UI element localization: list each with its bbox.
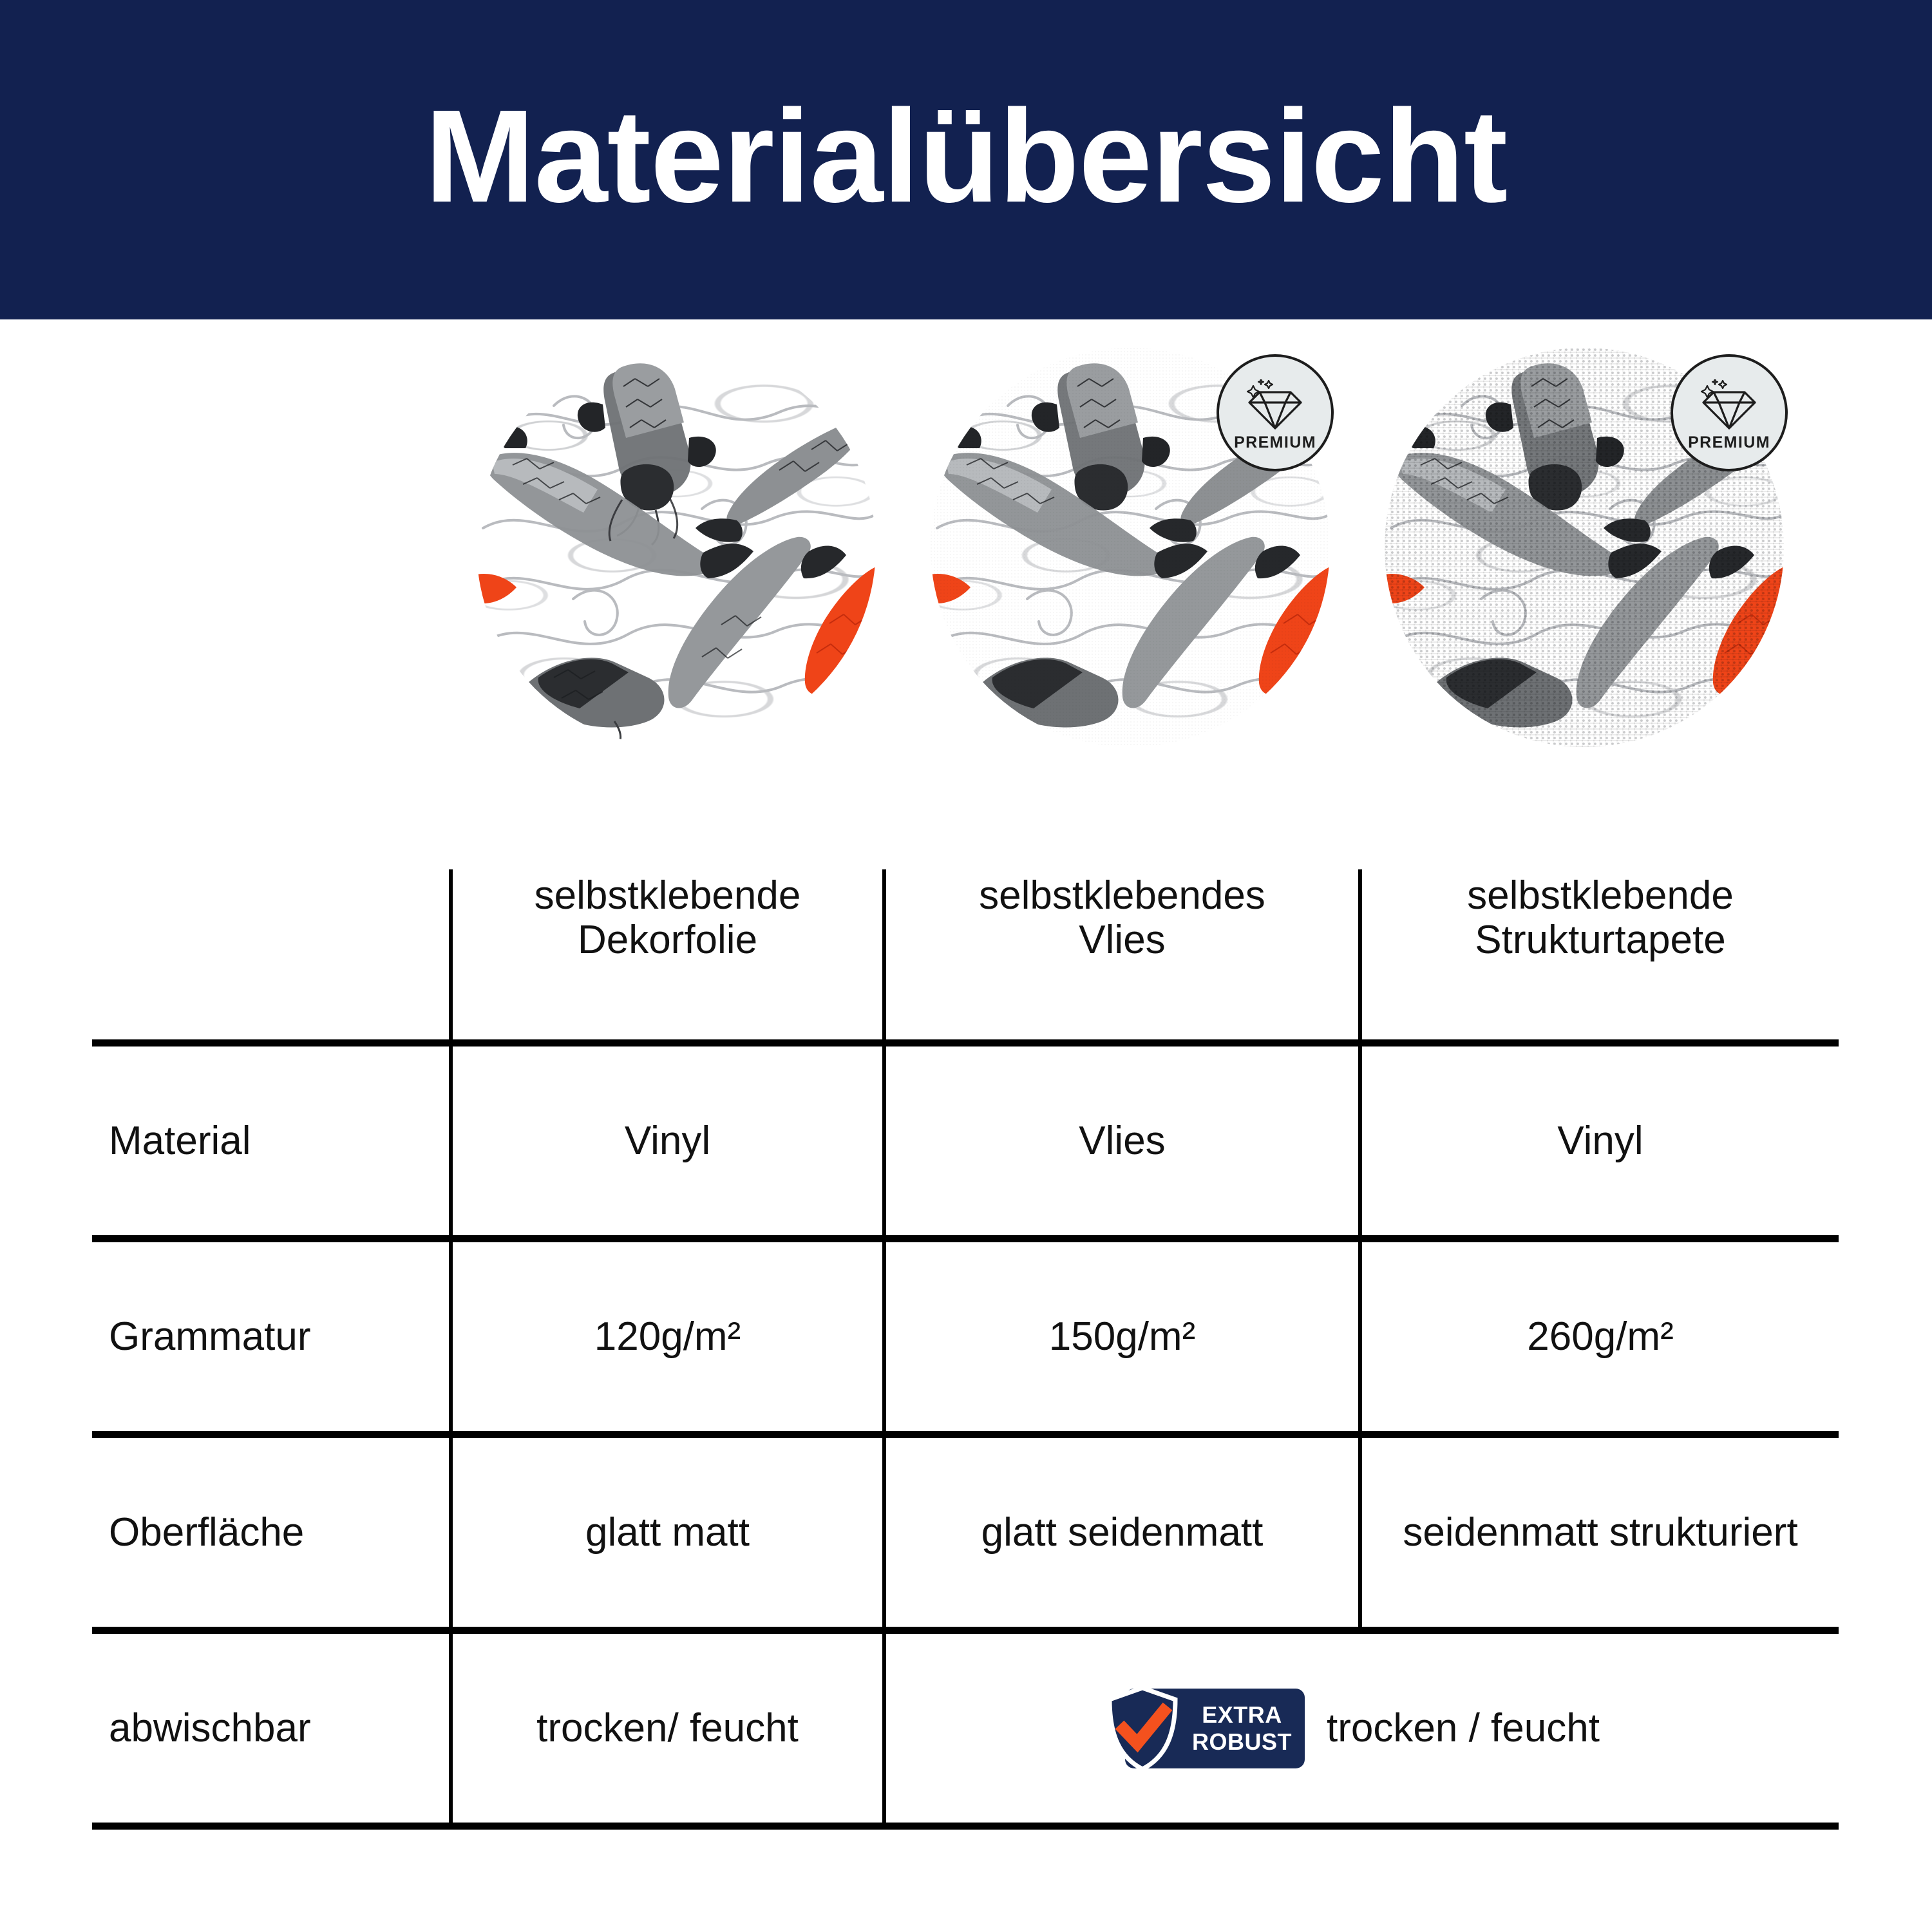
table-row-grammatur: Grammatur 120g/m² 150g/m² 260g/m² (92, 1239, 1839, 1435)
row-label-grammatur: Grammatur (92, 1239, 451, 1435)
cell-oberflaeche-strukturtapete: seidenmatt strukturiert (1360, 1435, 1839, 1631)
premium-badge: PREMIUM (1671, 354, 1788, 471)
cell-abwischbar-dekorfolie: trocken/ feucht (451, 1631, 884, 1826)
row-label-material: Material (92, 1043, 451, 1239)
header-cell-vlies: selbstklebendes Vlies (884, 869, 1360, 1043)
extra-robust-badge: EXTRA ROBUST (1125, 1689, 1305, 1768)
koi-fish-illustration (477, 348, 876, 747)
table-row-material: Material Vinyl Vlies Vinyl (92, 1043, 1839, 1239)
premium-badge: PREMIUM (1217, 354, 1334, 471)
row-label-oberflaeche: Oberfläche (92, 1435, 451, 1631)
header-line-1: selbstklebende (1362, 873, 1839, 918)
table-row-abwischbar: abwischbar trocken/ feucht (92, 1631, 1839, 1826)
swatch-vlies[interactable]: PREMIUM (931, 348, 1330, 747)
material-swatch-row: PREMIUM (0, 348, 1932, 760)
header-line-1: selbstklebende (453, 873, 882, 918)
cell-grammatur-dekorfolie: 120g/m² (451, 1239, 884, 1435)
page-title: Materialübersicht (425, 90, 1507, 222)
header-line-2: Vlies (886, 918, 1358, 962)
table-row-oberflaeche: Oberfläche glatt matt glatt seidenmatt s… (92, 1435, 1839, 1631)
header-band: Materialübersicht (0, 0, 1932, 319)
koi-red-right (805, 567, 876, 695)
cell-oberflaeche-dekorfolie: glatt matt (451, 1435, 884, 1631)
cell-oberflaeche-vlies: glatt seidenmatt (884, 1435, 1360, 1631)
cell-grammatur-strukturtapete: 260g/m² (1360, 1239, 1839, 1435)
koi-right-upper (696, 417, 872, 542)
page-root: Materialübersicht (0, 0, 1932, 1932)
header-cell-dekorfolie: selbstklebende Dekorfolie (451, 869, 884, 1043)
shield-check-icon (1104, 1685, 1180, 1772)
cell-line-1: trocken/ (536, 1706, 679, 1750)
premium-label: PREMIUM (1234, 435, 1316, 451)
cell-abwischbar-merged: EXTRA ROBUST trocken / feucht (884, 1631, 1839, 1826)
swatch-strukturtapete[interactable]: PREMIUM (1385, 348, 1784, 747)
koi-bottom-left (500, 658, 664, 747)
material-comparison-table: selbstklebende Dekorfolie selbstklebende… (92, 869, 1839, 1830)
cell-abwischbar-merged-text: trocken / feucht (1327, 1706, 1600, 1750)
table-header-row: selbstklebende Dekorfolie selbstklebende… (92, 869, 1839, 1043)
diamond-icon (1700, 379, 1759, 431)
cell-line-1: seidenmatt (1403, 1510, 1598, 1555)
header-line-2: Strukturtapete (1362, 918, 1839, 962)
cell-grammatur-vlies: 150g/m² (884, 1239, 1360, 1435)
row-label-abwischbar: abwischbar (92, 1631, 451, 1826)
header-line-1: selbstklebendes (886, 873, 1358, 918)
robust-line-2: ROBUST (1192, 1730, 1292, 1754)
premium-label: PREMIUM (1688, 435, 1770, 451)
swatch-disc (477, 348, 876, 747)
diamond-icon (1245, 379, 1305, 431)
cell-line-2: feucht (690, 1706, 799, 1750)
cell-line-1: glatt (981, 1510, 1057, 1555)
header-line-2: Dekorfolie (453, 918, 882, 962)
cell-material-vlies: Vlies (884, 1043, 1360, 1239)
cell-line-2: strukturiert (1609, 1510, 1798, 1555)
cell-line-2: seidenmatt (1068, 1510, 1263, 1555)
cell-material-dekorfolie: Vinyl (451, 1043, 884, 1239)
header-cell-blank (92, 869, 451, 1043)
cell-material-strukturtapete: Vinyl (1360, 1043, 1839, 1239)
robust-line-1: EXTRA (1192, 1703, 1292, 1727)
swatch-dekorfolie[interactable] (477, 348, 876, 747)
header-cell-strukturtapete: selbstklebende Strukturtapete (1360, 869, 1839, 1043)
